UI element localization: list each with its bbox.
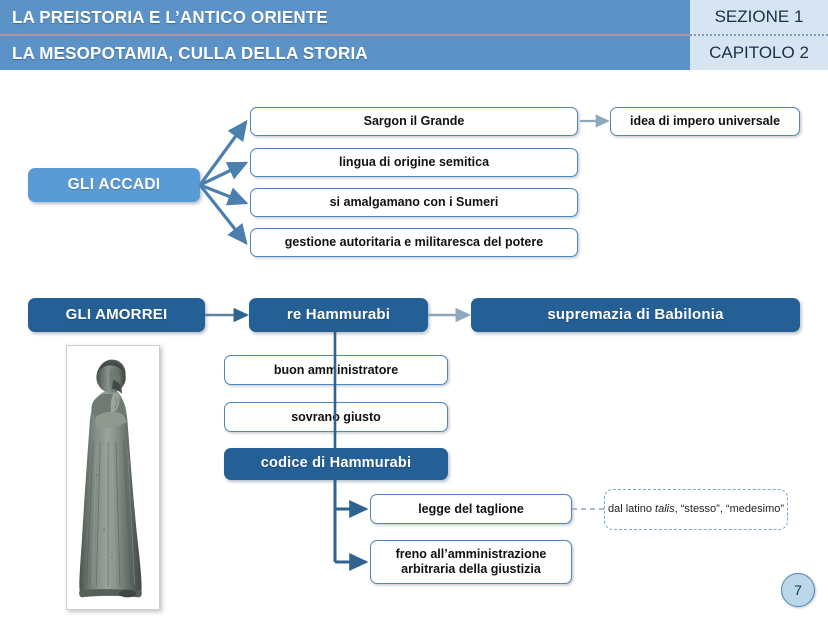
node-sovrano-giusto[interactable]: sovrano giusto (224, 402, 448, 432)
node-gli-amorrei[interactable]: GLI AMORREI (28, 298, 205, 332)
callout-prefix: dal latino (608, 503, 655, 515)
node-legge-del-taglione[interactable]: legge del taglione (370, 494, 572, 524)
callout-suffix: , “stesso”, “medesimo” (675, 503, 784, 515)
callout-italic-term: talis (655, 503, 675, 515)
node-freno-amministrazione[interactable]: freno all’amministrazione arbitraria del… (370, 540, 572, 584)
slide-header: LA PREISTORIA E L’ANTICO ORIENTE LA MESO… (0, 0, 828, 70)
accadi-branch-arrows (200, 122, 246, 243)
node-supremazia-babilonia[interactable]: supremazia di Babilonia (471, 298, 800, 332)
header-chapter-title: LA MESOPOTAMIA, CULLA DELLA STORIA (12, 36, 368, 70)
callout-etimologia-talis: dal latino talis, “stesso”, “medesimo” (604, 489, 788, 530)
statue-photo-orante (66, 345, 160, 610)
node-re-hammurabi[interactable]: re Hammurabi (249, 298, 428, 332)
node-sargon-il-grande[interactable]: Sargon il Grande (250, 107, 578, 136)
node-lingua-semitica[interactable]: lingua di origine semitica (250, 148, 578, 177)
page-number-badge: 7 (781, 573, 815, 607)
callout-text: dal latino talis, “stesso”, “medesimo” (608, 502, 784, 517)
node-codice-di-hammurabi[interactable]: codice di Hammurabi (224, 448, 448, 480)
node-idea-impero-universale[interactable]: idea di impero universale (610, 107, 800, 136)
header-chapter-label: CAPITOLO 2 (690, 36, 828, 70)
header-meta-panel: SEZIONE 1 CAPITOLO 2 (690, 0, 828, 70)
header-section-title: LA PREISTORIA E L’ANTICO ORIENTE (12, 0, 328, 34)
node-buon-amministratore[interactable]: buon amministratore (224, 355, 448, 385)
header-section-label: SEZIONE 1 (690, 0, 828, 34)
node-gestione-autoritaria[interactable]: gestione autoritaria e militaresca del p… (250, 228, 578, 257)
node-gli-accadi[interactable]: GLI ACCADI (28, 168, 200, 202)
node-amalgama-sumeri[interactable]: si amalgamano con i Sumeri (250, 188, 578, 217)
